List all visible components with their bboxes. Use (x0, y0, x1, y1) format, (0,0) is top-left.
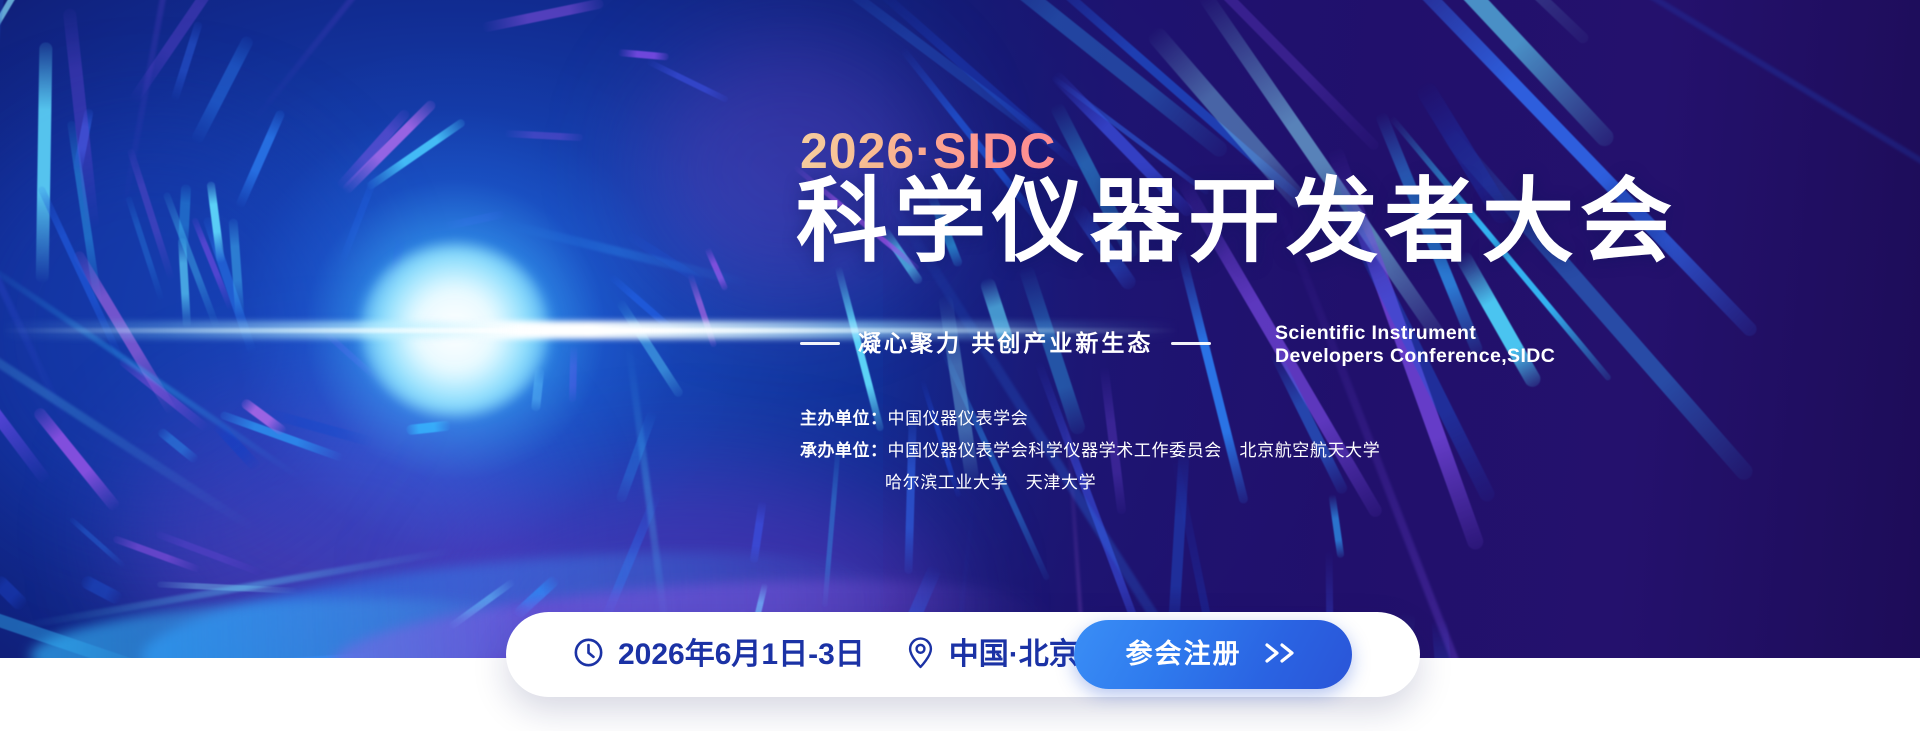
event-date-text: 2026年6月1日-3日 (618, 640, 865, 670)
page-title: 科学仪器开发者大会 (796, 176, 1678, 268)
organizer-value: 哈尔滨工业大学 天津大学 (885, 474, 1096, 491)
location-pin-icon (905, 636, 936, 674)
double-chevron-right-icon (1261, 640, 1301, 669)
organizer-value: 中国仪器仪表学会 (888, 410, 1029, 427)
organizer-row: 承办单位： 中国仪器仪表学会科学仪器学术工作委员会 北京航空航天大学 (800, 442, 1380, 459)
event-info-bar: 2026年6月1日-3日 中国·北京 参会注册 (506, 612, 1420, 697)
slogan-row: 凝心聚力 共创产业新生态 (800, 332, 1211, 355)
swirl-streak (0, 573, 29, 612)
slogan-dash-left (800, 342, 840, 345)
swirl-streak (481, 0, 605, 33)
clock-icon (572, 636, 605, 674)
organizer-value: 中国仪器仪表学会科学仪器学术工作委员会 北京航空航天大学 (888, 442, 1381, 459)
banner-page: 2026·SIDC 科学仪器开发者大会 凝心聚力 共创产业新生态 Scienti… (0, 0, 1920, 731)
organizer-label: 承办单位： (800, 442, 888, 459)
organizer-label: 主办单位： (800, 410, 888, 427)
swirl-streak (0, 0, 24, 41)
swirl-streak (35, 42, 51, 283)
swirl-streak (190, 34, 255, 145)
swirl-streak (618, 49, 669, 60)
organizer-row: 主办单位： 中国仪器仪表学会 (800, 410, 1380, 427)
swirl-streak (32, 406, 122, 513)
register-button-label: 参会注册 (1126, 641, 1242, 668)
english-title: Scientific Instrument Developers Confere… (1275, 322, 1555, 367)
conference-banner: 2026·SIDC 科学仪器开发者大会 凝心聚力 共创产业新生态 Scienti… (0, 0, 1920, 658)
organizer-row: 哈尔滨工业大学 天津大学 (800, 474, 1380, 491)
register-button[interactable]: 参会注册 (1074, 620, 1352, 689)
event-location: 中国·北京 (905, 636, 1079, 674)
organizer-list: 主办单位： 中国仪器仪表学会 承办单位： 中国仪器仪表学会科学仪器学术工作委员会… (800, 410, 1380, 491)
slogan-text: 凝心聚力 共创产业新生态 (858, 332, 1153, 355)
event-code-title: 2026·SIDC (800, 126, 1056, 176)
english-title-line-1: Scientific Instrument (1275, 322, 1555, 345)
event-date: 2026年6月1日-3日 (572, 636, 865, 674)
swirl-streak (315, 0, 405, 4)
swirl-streak (79, 574, 124, 606)
swirl-streak (156, 427, 199, 464)
swirl-streak (646, 58, 729, 102)
english-title-line-2: Developers Conference,SIDC (1275, 345, 1555, 368)
event-location-text: 中国·北京 (949, 640, 1079, 670)
slogan-dash-right (1171, 342, 1211, 345)
banner-content: 2026·SIDC 科学仪器开发者大会 凝心聚力 共创产业新生态 Scienti… (800, 0, 1700, 658)
swirl-streak (154, 530, 262, 576)
